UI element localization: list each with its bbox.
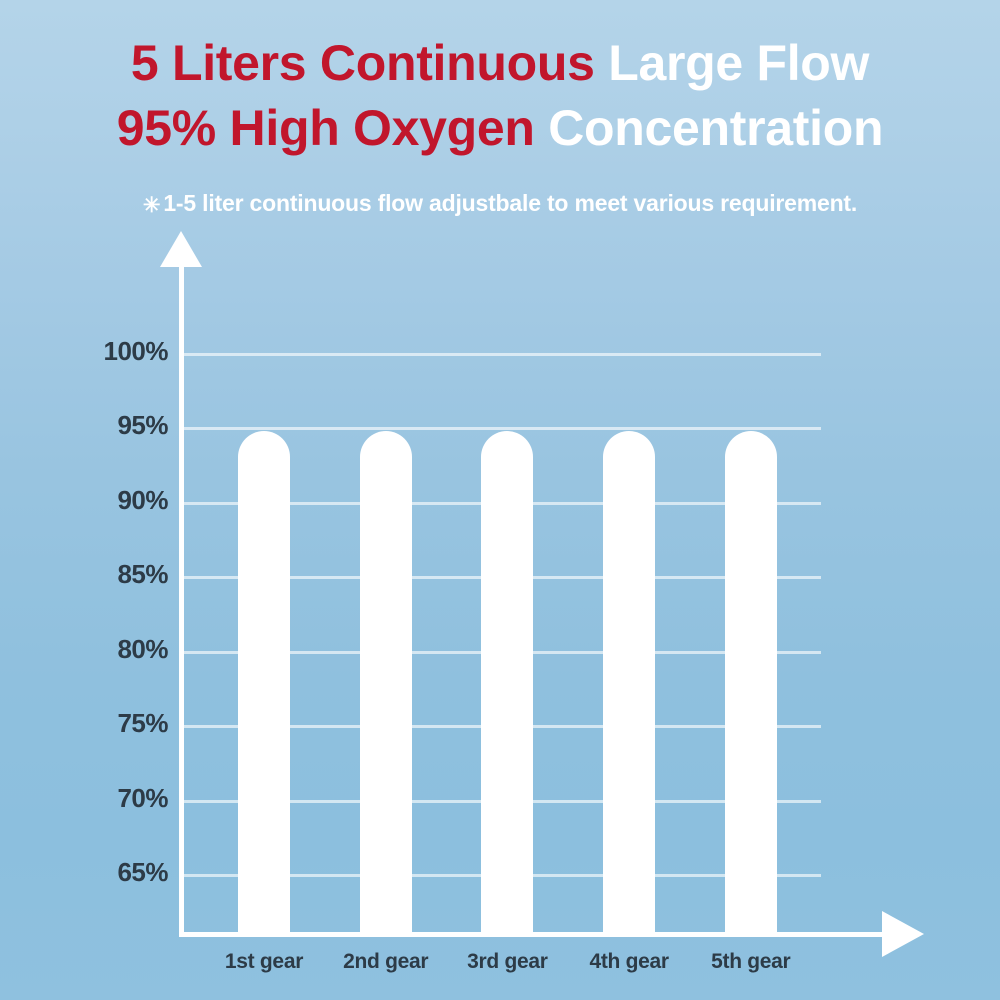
y-axis-arrow-icon: [160, 231, 202, 267]
gridline-100: [183, 353, 821, 356]
x-axis-tick-label: 5th gear: [671, 950, 831, 974]
y-axis-line: [179, 262, 184, 936]
gridline-95: [183, 427, 821, 430]
infographic-banner: 5 Liters Continuous Large Flow 95% High …: [0, 0, 1000, 1000]
oxygen-concentration-bar-chart: 100%95%90%85%80%75%70%65% 1st gear2nd ge…: [0, 0, 1000, 1000]
x-axis-arrow-icon: [882, 911, 924, 957]
bar-4th-gear: [603, 431, 655, 933]
y-axis-tick-label: 95%: [28, 410, 168, 441]
bar-5th-gear: [725, 431, 777, 933]
y-axis-tick-label: 65%: [28, 857, 168, 888]
y-axis-tick-label: 85%: [28, 559, 168, 590]
y-axis-tick-label: 80%: [28, 634, 168, 665]
y-axis-tick-label: 100%: [28, 336, 168, 367]
y-axis-tick-label: 70%: [28, 783, 168, 814]
bar-1st-gear: [238, 431, 290, 933]
bar-3rd-gear: [481, 431, 533, 933]
y-axis-tick-label: 75%: [28, 708, 168, 739]
bar-2nd-gear: [360, 431, 412, 933]
y-axis-tick-label: 90%: [28, 485, 168, 516]
